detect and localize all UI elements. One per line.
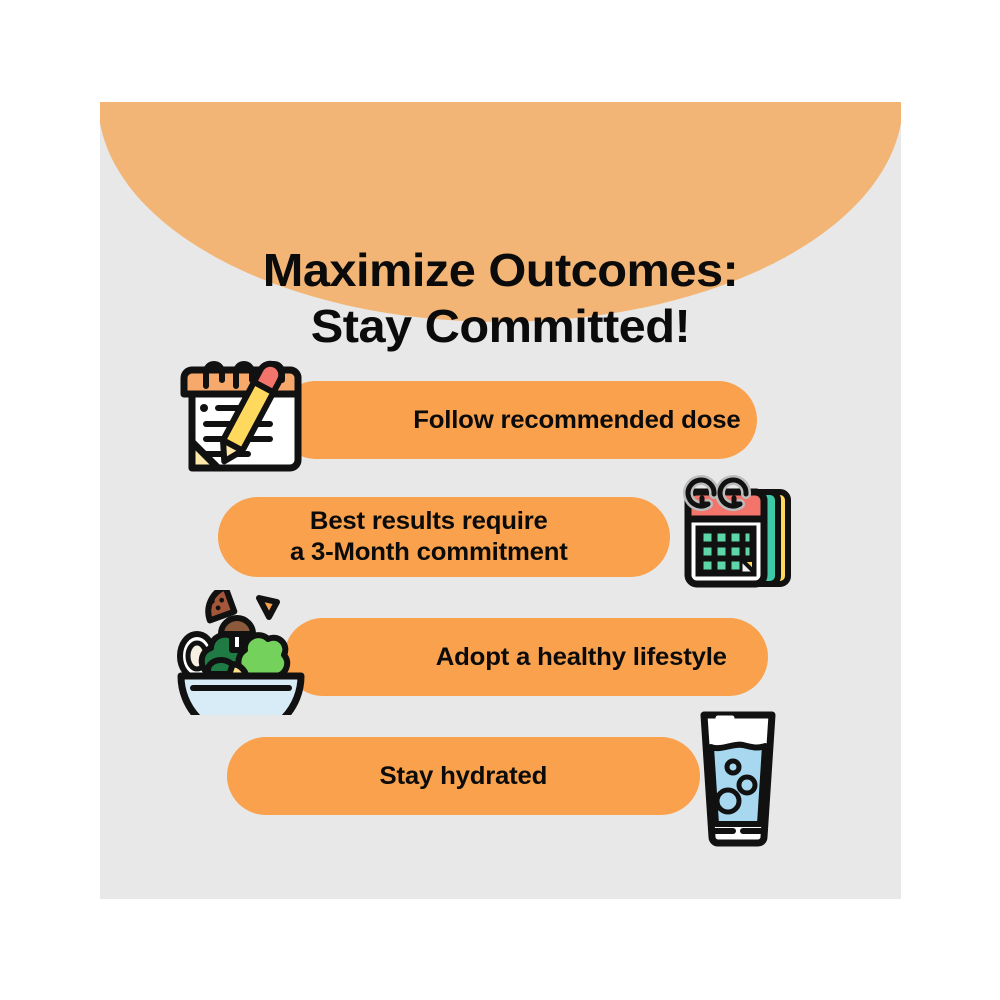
water-glass-icon — [688, 707, 788, 847]
pill-follow-dose[interactable]: Follow recommended dose — [277, 381, 757, 459]
page-title: Maximize Outcomes: Stay Committed! — [100, 242, 901, 354]
pill-label-healthy-lifestyle: Adopt a healthy lifestyle — [435, 642, 726, 673]
title-line-1: Maximize Outcomes: — [100, 242, 901, 298]
pill-stay-hydrated[interactable]: Stay hydrated — [227, 737, 700, 815]
notepad-pencil-icon — [170, 346, 310, 481]
salad-bowl-icon — [175, 590, 310, 715]
infographic-canvas: Maximize Outcomes: Stay Committed! Follo… — [0, 0, 1000, 1000]
calendar-icon — [674, 470, 806, 595]
pill-three-month-commitment[interactable]: Best results require a 3-Month commitmen… — [218, 497, 670, 577]
content-panel: Maximize Outcomes: Stay Committed! Follo… — [100, 102, 901, 899]
pill-label-stay-hydrated: Stay hydrated — [380, 761, 548, 792]
pill-label-follow-dose: Follow recommended dose — [413, 405, 740, 436]
pill-healthy-lifestyle[interactable]: Adopt a healthy lifestyle — [284, 618, 768, 696]
pill-label-three-month-commitment: Best results require a 3-Month commitmen… — [290, 506, 568, 568]
